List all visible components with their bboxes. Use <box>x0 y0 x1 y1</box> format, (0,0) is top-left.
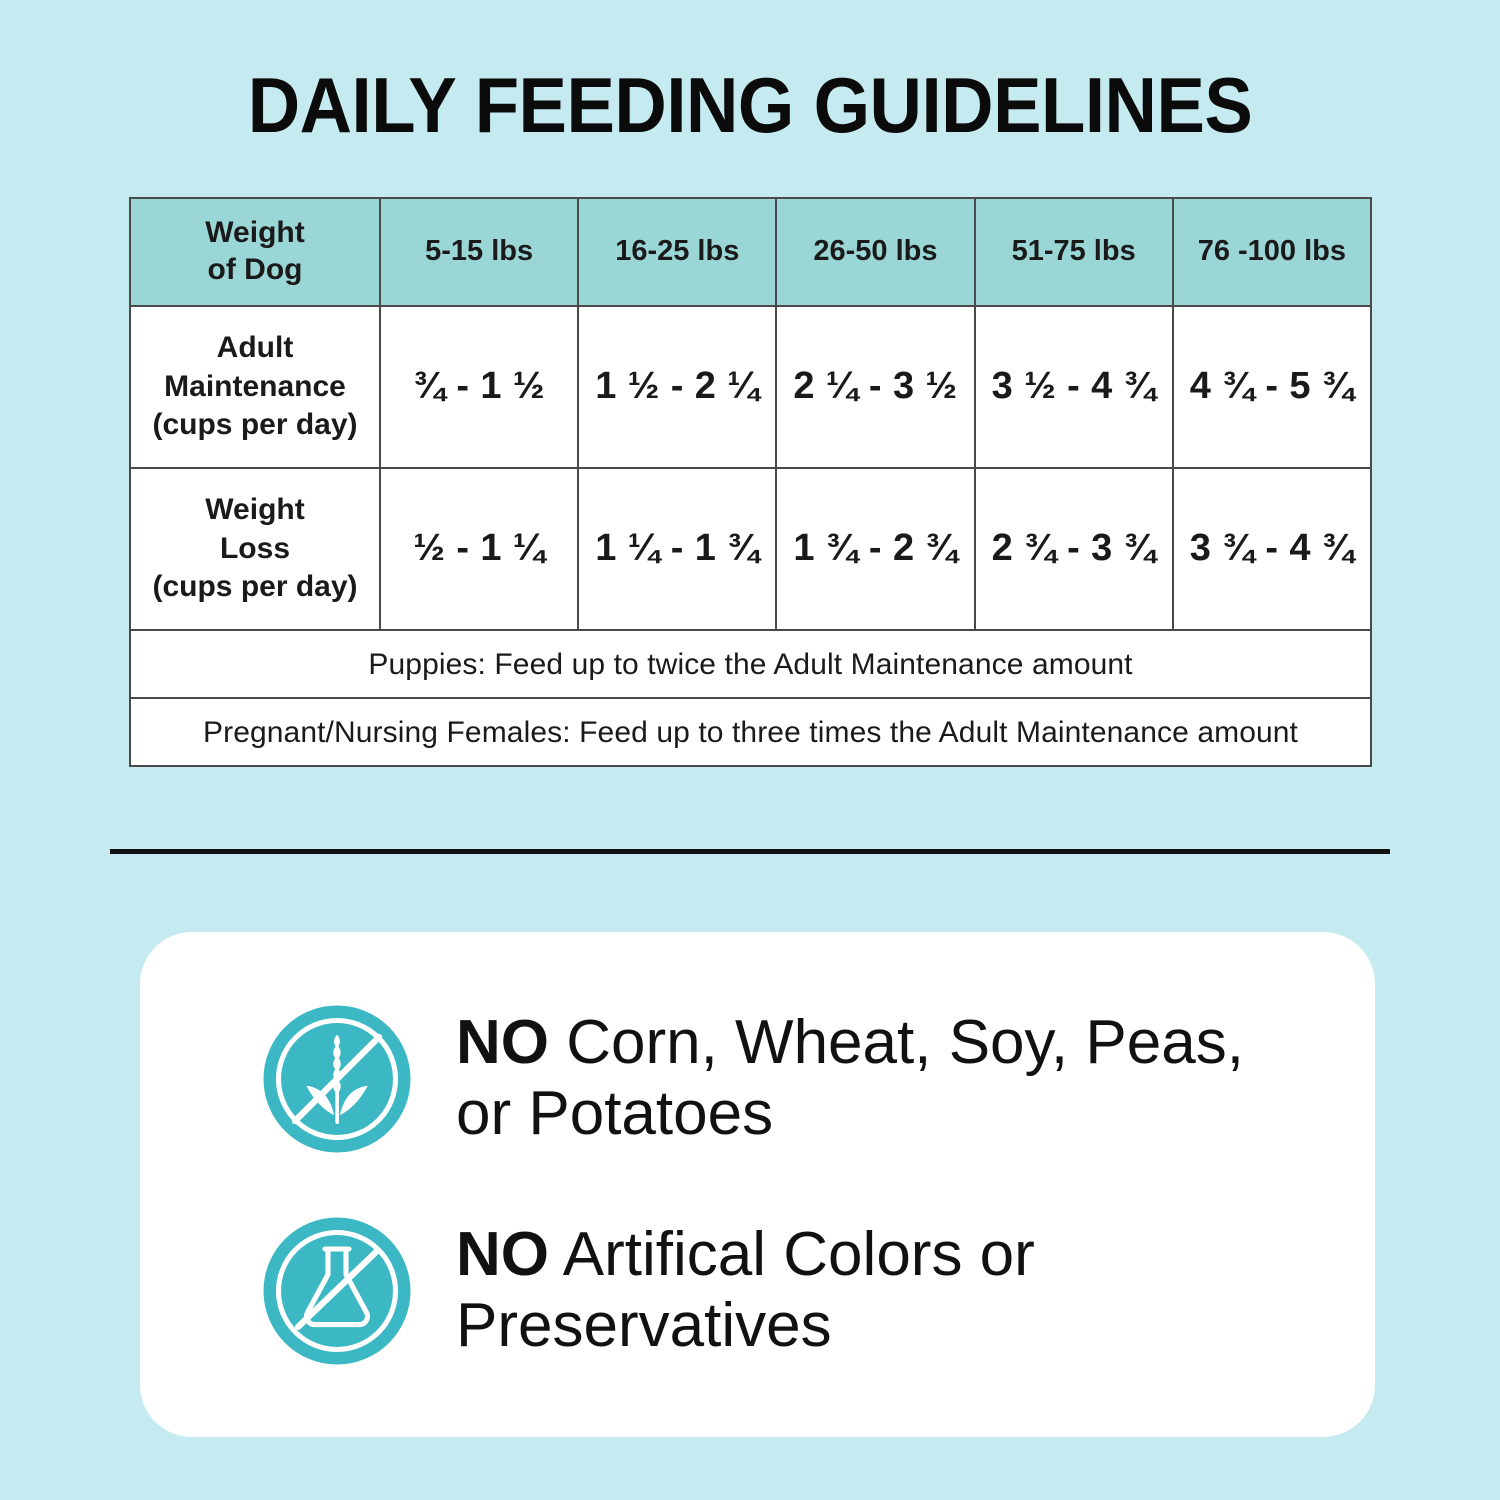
table-header-row: Weight of Dog 5-15 lbs 16-25 lbs 26-50 l… <box>130 198 1371 306</box>
column-header-16-25: 16-25 lbs <box>578 198 776 306</box>
column-header-51-75: 51-75 lbs <box>975 198 1173 306</box>
note-pregnant-nursing: Pregnant/Nursing Females: Feed up to thr… <box>130 698 1371 766</box>
cell-adult-26-50: 2 ¼ - 3 ½ <box>776 306 974 468</box>
table-row-adult-maintenance: Adult Maintenance (cups per day) ¾ - 1 ½… <box>130 306 1371 468</box>
no-chemicals-flask-icon <box>262 1216 412 1366</box>
column-header-weight-of-dog: Weight of Dog <box>130 198 380 306</box>
column-header-line2: of Dog <box>208 253 303 286</box>
cell-adult-76-100: 4 ¾ - 5 ¾ <box>1173 306 1371 468</box>
table-row-pregnant-note: Pregnant/Nursing Females: Feed up to thr… <box>130 698 1371 766</box>
cell-loss-76-100: 3 ¾ - 4 ¾ <box>1173 468 1371 630</box>
row-label-line2: Maintenance <box>164 370 346 403</box>
feature-card: NO Corn, Wheat, Soy, Peas, or Potatoes N… <box>140 932 1375 1437</box>
row-label-line1: Adult <box>217 331 294 364</box>
table-row-puppies-note: Puppies: Feed up to twice the Adult Main… <box>130 630 1371 698</box>
cell-loss-16-25: 1 ¼ - 1 ¾ <box>578 468 776 630</box>
feature-row-no-artificial: NO Artifical Colors or Preservatives <box>262 1216 1375 1366</box>
cell-loss-5-15: ½ - 1 ¼ <box>380 468 578 630</box>
feeding-guidelines-table: Weight of Dog 5-15 lbs 16-25 lbs 26-50 l… <box>129 197 1372 767</box>
column-header-76-100: 76 -100 lbs <box>1173 198 1371 306</box>
cell-adult-5-15: ¾ - 1 ½ <box>380 306 578 468</box>
section-divider <box>110 849 1390 854</box>
column-header-line1: Weight <box>205 216 304 249</box>
feature-no-label: NO <box>456 1008 549 1077</box>
feature-text-no-artificial: NO Artifical Colors or Preservatives <box>456 1220 1286 1360</box>
cell-loss-26-50: 1 ¾ - 2 ¾ <box>776 468 974 630</box>
row-label-line2: Loss <box>220 532 290 565</box>
feature-row-no-grain: NO Corn, Wheat, Soy, Peas, or Potatoes <box>262 1004 1375 1154</box>
page-title: DAILY FEEDING GUIDELINES <box>53 66 1448 144</box>
cell-adult-51-75: 3 ½ - 4 ¾ <box>975 306 1173 468</box>
column-header-26-50: 26-50 lbs <box>776 198 974 306</box>
cell-adult-16-25: 1 ½ - 2 ¼ <box>578 306 776 468</box>
no-grain-icon <box>262 1004 412 1154</box>
column-header-5-15: 5-15 lbs <box>380 198 578 306</box>
note-puppies: Puppies: Feed up to twice the Adult Main… <box>130 630 1371 698</box>
row-label-line1: Weight <box>205 493 304 526</box>
feature-list: NO Corn, Wheat, Soy, Peas, or Potatoes N… <box>140 932 1375 1437</box>
feature-body: Corn, Wheat, Soy, Peas, or Potatoes <box>456 1008 1244 1147</box>
feature-text-no-grain: NO Corn, Wheat, Soy, Peas, or Potatoes <box>456 1008 1286 1148</box>
cell-loss-51-75: 2 ¾ - 3 ¾ <box>975 468 1173 630</box>
table-row-weight-loss: Weight Loss (cups per day) ½ - 1 ¼ 1 ¼ -… <box>130 468 1371 630</box>
feature-no-label: NO <box>456 1220 549 1289</box>
row-label-weight-loss: Weight Loss (cups per day) <box>130 468 380 630</box>
row-label-adult-maintenance: Adult Maintenance (cups per day) <box>130 306 380 468</box>
row-label-line3: (cups per day) <box>152 570 357 603</box>
row-label-line3: (cups per day) <box>152 408 357 441</box>
